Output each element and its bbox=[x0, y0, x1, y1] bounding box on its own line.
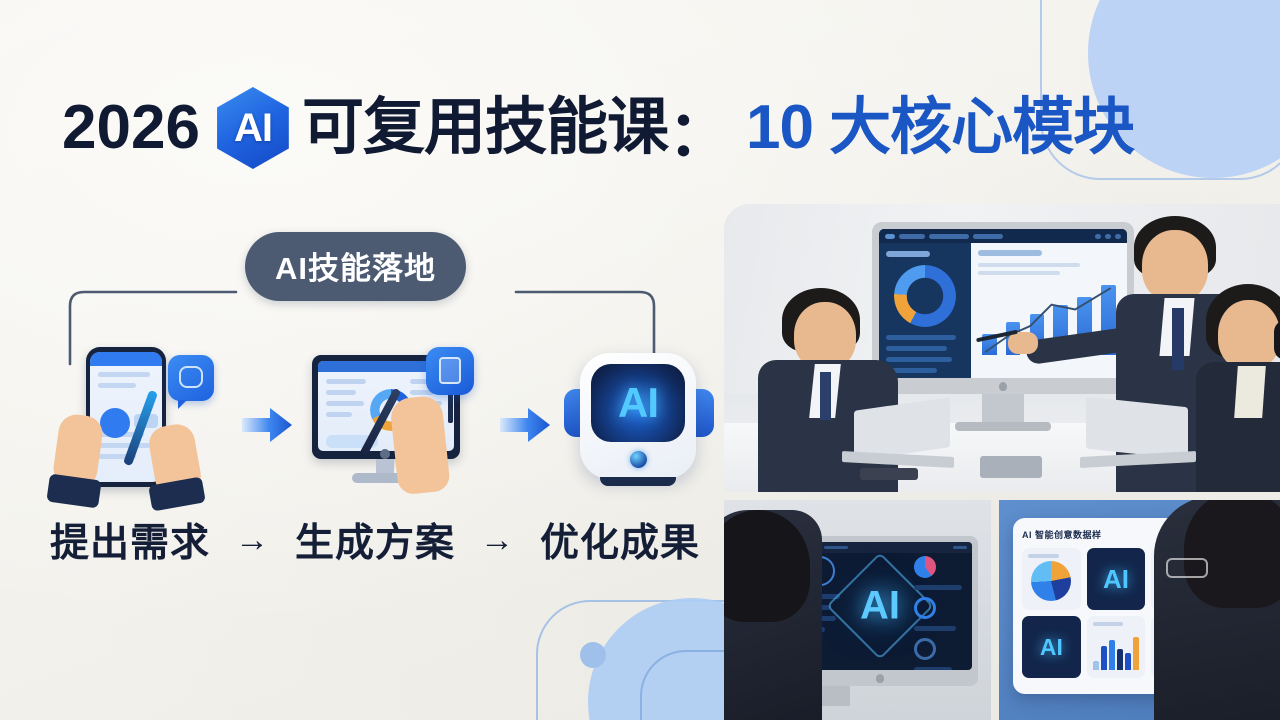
dashboard-donut-chart bbox=[894, 265, 956, 327]
main-subtext bbox=[978, 263, 1080, 267]
display-foot bbox=[955, 422, 1051, 431]
hair bbox=[724, 510, 810, 622]
bar bbox=[1117, 649, 1123, 670]
panel-ring-icon bbox=[914, 597, 936, 619]
topbar-chip bbox=[824, 546, 848, 549]
blouse bbox=[1234, 366, 1266, 418]
apple-logo-icon bbox=[876, 674, 884, 683]
bar bbox=[1093, 661, 1099, 671]
laptop-left bbox=[842, 404, 952, 470]
ai-card-label: AI bbox=[1103, 564, 1129, 595]
laptop-screen bbox=[854, 397, 950, 460]
person-viewer bbox=[1154, 500, 1280, 720]
pointing-hand bbox=[389, 395, 451, 496]
laptop-right bbox=[1080, 402, 1196, 470]
topbar-chip bbox=[973, 234, 1003, 239]
laptop-base bbox=[1080, 451, 1196, 468]
poster-canvas: 2026 AI 可复用技能课 ： 10 大核心模块 AI技能落地 bbox=[0, 0, 1280, 720]
tie bbox=[820, 372, 831, 420]
ai-badge-label: AI bbox=[234, 106, 272, 151]
robot-ai-label: AI bbox=[618, 379, 658, 427]
phone-stylus-chat-illustration bbox=[40, 341, 236, 509]
board-card-ai: AI bbox=[1087, 548, 1146, 610]
person-seated-right bbox=[1196, 284, 1280, 492]
board-card-ai-2: AI bbox=[1022, 616, 1081, 678]
monitor-power-dot bbox=[380, 449, 390, 459]
topbar-chip bbox=[929, 234, 969, 239]
robot-lens-icon bbox=[630, 451, 647, 468]
step-label-1: 提出需求 bbox=[50, 512, 210, 568]
bar bbox=[1101, 646, 1107, 670]
robot-head: AI bbox=[580, 353, 696, 479]
meeting-dashboard-photo bbox=[724, 204, 1280, 492]
person-back-view bbox=[724, 510, 822, 720]
title-colon: ： bbox=[668, 83, 730, 173]
card-caption bbox=[1093, 622, 1124, 626]
bar bbox=[1125, 653, 1131, 670]
dashboard-body bbox=[879, 243, 1127, 378]
head bbox=[1218, 300, 1280, 370]
bar bbox=[1133, 637, 1139, 670]
panel-ring-icon bbox=[914, 638, 936, 660]
main-subtext bbox=[978, 271, 1061, 275]
title-blue-part: 10 大核心模块 bbox=[746, 97, 1134, 159]
panel-row bbox=[914, 626, 955, 631]
presenter-hand bbox=[1008, 332, 1038, 354]
step-label-2: 生成方案 bbox=[295, 512, 455, 568]
sidebar-heading bbox=[886, 251, 930, 257]
laptop-screen bbox=[1086, 397, 1188, 460]
step-label-3: 优化成果 bbox=[540, 512, 700, 568]
eyeglasses-icon bbox=[1166, 558, 1208, 578]
chat-bubble-icon bbox=[168, 355, 214, 401]
laptop-base bbox=[842, 451, 954, 468]
dashboard-right-panel bbox=[914, 556, 966, 670]
desk-stand bbox=[980, 456, 1042, 478]
apple-logo-icon bbox=[999, 382, 1007, 391]
dashboard-topbar bbox=[879, 229, 1127, 243]
tie bbox=[1172, 308, 1184, 370]
arrow-2 bbox=[494, 405, 556, 445]
panel-row bbox=[914, 585, 961, 590]
dot-decoration-bottom bbox=[580, 642, 606, 668]
phone-status-bar bbox=[90, 352, 162, 366]
phone-text-line bbox=[98, 443, 150, 448]
flow-pill-label: AI技能落地 bbox=[245, 232, 466, 301]
step-arrow-icon: → bbox=[235, 521, 270, 560]
badge-stem bbox=[448, 393, 453, 423]
topbar-chip bbox=[899, 234, 925, 239]
panel-donut-chart bbox=[914, 556, 936, 578]
ai-hexagon-badge-icon: AI bbox=[214, 87, 292, 169]
poster-title: 2026 AI 可复用技能课 ： 10 大核心模块 bbox=[62, 83, 1134, 173]
bar-series bbox=[1093, 632, 1140, 670]
tablet-icon bbox=[426, 347, 474, 395]
hair bbox=[1184, 500, 1280, 608]
left-sleeve-cuff bbox=[46, 474, 101, 509]
monitor-text-line bbox=[326, 401, 364, 406]
pie-chart bbox=[1031, 561, 1071, 601]
bar bbox=[1109, 640, 1115, 670]
title-dark-part: 可复用技能课 bbox=[302, 97, 668, 159]
ponytail bbox=[1274, 320, 1280, 360]
board-card-bar bbox=[1087, 616, 1146, 678]
board-card-pie bbox=[1022, 548, 1081, 610]
robot-base bbox=[600, 477, 676, 486]
card-caption bbox=[1028, 554, 1059, 558]
presentation-board-photo: AI 智能创意数据样 AI bbox=[999, 500, 1280, 720]
monitor-text-line bbox=[326, 412, 352, 417]
desk-device bbox=[860, 468, 918, 480]
phone-text-line bbox=[98, 383, 136, 388]
title-year: 2026 bbox=[62, 97, 200, 159]
ai-hologram-label: AI bbox=[860, 584, 900, 629]
topbar-chip bbox=[1095, 234, 1101, 239]
phone-text-line bbox=[98, 372, 150, 377]
display-chin bbox=[872, 378, 1134, 394]
desktop-display bbox=[872, 222, 1134, 394]
monitor-donut-hand-illustration bbox=[298, 341, 494, 509]
main-heading bbox=[978, 250, 1042, 256]
photo-collage: AI bbox=[724, 204, 1280, 720]
illustration-row: AI bbox=[40, 340, 700, 510]
topbar-chip bbox=[953, 546, 967, 549]
display-stand bbox=[982, 394, 1024, 424]
step-arrow-icon: → bbox=[480, 521, 515, 560]
monitor-text-line bbox=[326, 379, 366, 384]
topbar-chip bbox=[1105, 234, 1111, 239]
topbar-chip bbox=[885, 234, 895, 239]
arrow-right-icon bbox=[498, 405, 552, 445]
ai-robot-illustration: AI bbox=[556, 341, 724, 509]
ai-card-label: AI bbox=[1040, 634, 1063, 661]
arrow-right-icon bbox=[240, 405, 294, 445]
robot-face-screen: AI bbox=[591, 364, 685, 442]
step-labels-row: 提出需求 → 生成方案 → 优化成果 bbox=[50, 512, 700, 568]
monitor-text-line bbox=[326, 390, 356, 395]
analyst-ai-hologram-photo: AI bbox=[724, 500, 991, 720]
phone-avatar-circle bbox=[100, 408, 130, 438]
arrow-1 bbox=[236, 405, 298, 445]
chat-glyph bbox=[179, 366, 203, 388]
tablet-glyph bbox=[439, 357, 461, 384]
